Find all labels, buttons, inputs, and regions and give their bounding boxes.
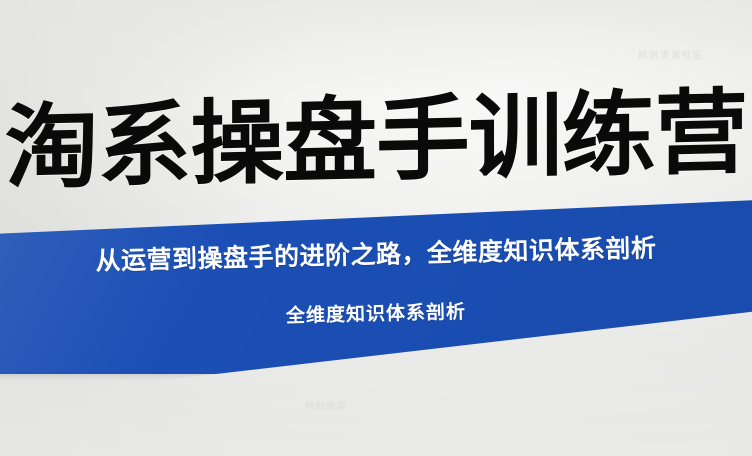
poster-canvas: 网创资源社区 淘系操盘手训练营 从运营到操盘手的进阶之路，全维度知识体系剖析 全… — [0, 0, 752, 456]
headline-container: 淘系操盘手训练营 — [0, 84, 752, 198]
subtitle-secondary: 全维度知识体系剖析 — [286, 301, 467, 329]
watermark-bottom-center: 网创资源 — [305, 399, 347, 412]
watermark-top-right: 网创资源社区 — [638, 48, 704, 61]
poster-headline: 淘系操盘手训练营 — [5, 84, 747, 198]
accent-band — [0, 196, 752, 374]
